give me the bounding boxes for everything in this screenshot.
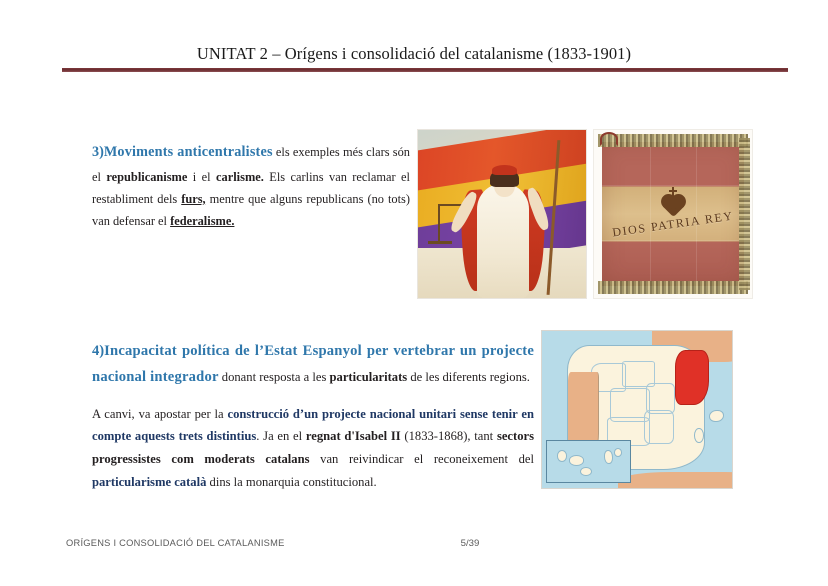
republican-allegory-painting [417,129,587,299]
bullet-3-bold-republicanisme: republicanisme [106,170,187,184]
map-province-border [644,410,673,444]
phrygian-cap-icon [492,165,517,175]
bullet-3-underline-furs: furs, [181,192,205,206]
figure-body [477,184,529,298]
bullet-4-marker: 4) [92,343,104,359]
bullet-4p2-text-2: . Ja en el [256,429,306,443]
spain-map-catalonia-highlighted [541,330,733,489]
bullet-3-lead: Moviments anticentralistes [104,144,273,160]
flag-fold [602,240,744,241]
flag-hook-icon [600,132,618,146]
bullet-item-3: 3)Moviments anticentralistes els exemple… [92,128,410,244]
justice-scale-left-cord [438,204,440,241]
slide-footer: ORÍGENS I CONSOLIDACIÓ DEL CATALANISME 5… [0,538,828,558]
bullet-4p2-text-5: dins la monarquia constitucional. [206,475,376,489]
bullet-4p2-bold-regnat: regnat d'Isabel II [306,429,401,443]
footer-subject-label: ORÍGENS I CONSOLIDACIÓ DEL CATALANISME [66,538,285,548]
justice-scale-left-pan [428,241,452,244]
slide-content: 3)Moviments anticentralistes els exemple… [0,0,828,586]
bullet-3-paragraph: 3)Moviments anticentralistes els exemple… [92,140,410,232]
bullet-4-paragraph-2: A canvi, va apostar per la construcció d… [92,403,534,494]
map-africa-region [618,472,733,489]
bullet-4p2-text-3: (1833-1868), tant [401,429,497,443]
bullet-4p2-navy-particularisme: particularisme català [92,475,206,489]
map-canary-island [557,450,567,462]
bullet-3-marker: 3) [92,144,104,160]
bullet-4p2-text-4: van reivindicar el reconeixement del [310,452,534,466]
flag-fold [602,185,744,186]
bullet-4-bold-particularitats: particularitats [330,370,408,384]
bullet-4-paragraph-1: 4)Incapacitat política de l’Estat Espany… [92,338,534,391]
bullet-3-text-2: i el [187,170,216,184]
carlist-flag-photo: DIOS PATRIA REY [593,129,753,299]
map-catalonia-highlight [675,350,709,405]
bullet-4p2-text-1: A canvi, va apostar per la [92,407,228,421]
map-canary-island [614,448,623,457]
flag-fringe-top [598,134,748,147]
bullet-4-text-1: donant resposta a les [219,370,330,384]
bullet-3-underline-federalisme: federalisme. [170,214,234,228]
map-canary-island [604,450,614,464]
map-canary-islands-inset [546,440,632,483]
map-canary-island [580,467,592,476]
flag-fringe-right [739,138,750,290]
map-balearic-ibiza [694,428,704,443]
bullet-4-text-2: de les diferents regions. [407,370,530,384]
bullet-item-4: 4)Incapacitat política de l’Estat Espany… [92,325,534,506]
flag-fold [650,142,651,286]
footer-page-number: 5/39 [440,538,500,549]
map-canary-island [569,455,584,465]
flag-fringe-bottom [598,281,748,294]
bullet-3-bold-carlisme: carlisme. [216,170,264,184]
